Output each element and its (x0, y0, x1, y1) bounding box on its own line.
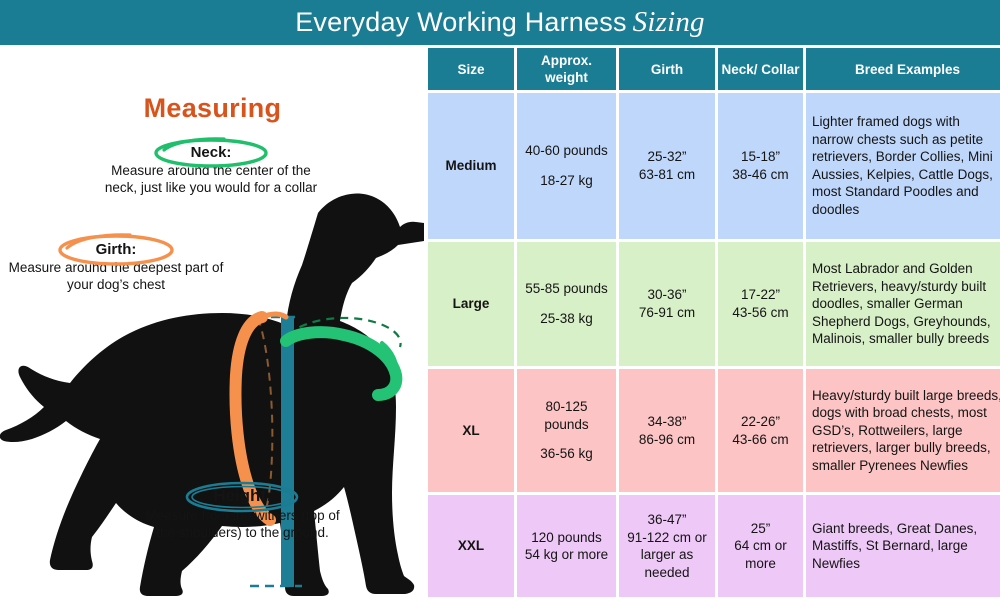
callout-girth: Girth: Measure around the deepest part o… (3, 240, 229, 293)
cell-size: Medium (428, 93, 514, 239)
column-header-neck: Neck/ Collar (718, 48, 803, 90)
cell-girth: 30-36” 76-91 cm (619, 242, 715, 366)
cell-weight-pounds: 120 pounds (531, 530, 602, 545)
cell-neck-inches: 15-18” (741, 149, 780, 164)
height-measure-bar (281, 317, 294, 587)
cell-neck-inches: 22-26” (741, 414, 780, 429)
cell-girth: 34-38” 86-96 cm (619, 369, 715, 493)
cell-neck: 22-26” 43-66 cm (718, 369, 803, 493)
page-title: Everyday Working HarnessSizing (295, 6, 705, 39)
cell-weight: 40-60 pounds 18-27 kg (517, 93, 616, 239)
cell-girth: 25-32” 63-81 cm (619, 93, 715, 239)
page-title-main: Everyday Working Harness (295, 7, 626, 37)
callout-neck-title: Neck: (165, 143, 258, 163)
cell-breeds: Most Labrador and Golden Retrievers, hea… (806, 242, 1000, 366)
cell-weight: 80-125 pounds 36-56 kg (517, 369, 616, 493)
cell-girth-cm: 91-122 cm or larger as needed (627, 530, 707, 580)
column-header-size: Size (428, 48, 514, 90)
cell-neck-cm: 43-56 cm (732, 305, 788, 320)
callout-neck: Neck: Measure around the center of the n… (96, 143, 326, 196)
cell-girth-cm: 76-91 cm (639, 305, 695, 320)
cell-neck: 25” 64 cm or more (718, 495, 803, 597)
cell-girth-cm: 86-96 cm (639, 432, 695, 447)
table-row: XXL 120 pounds 54 kg or more 36-47” 91-1… (428, 495, 1000, 597)
cell-neck: 17-22” 43-56 cm (718, 242, 803, 366)
sizing-table: Size Approx. weight Girth Neck/ Collar B… (425, 45, 1000, 600)
cell-neck-cm: 38-46 cm (732, 167, 788, 182)
cell-neck: 15-18” 38-46 cm (718, 93, 803, 239)
callout-girth-label: Girth: (96, 241, 137, 258)
callout-height-label: Height: (213, 486, 272, 505)
cell-weight: 120 pounds 54 kg or more (517, 495, 616, 597)
column-header-girth: Girth (619, 48, 715, 90)
table-row: Large 55-85 pounds 25-38 kg 30-36” 76-91… (428, 242, 1000, 366)
cell-weight-kg: 18-27 kg (540, 173, 593, 188)
cell-neck-cm: 64 cm or more (734, 538, 787, 571)
cell-weight-kg: 25-38 kg (540, 311, 593, 326)
cell-girth-cm: 63-81 cm (639, 167, 695, 182)
spacer (523, 433, 610, 445)
column-header-weight: Approx. weight (517, 48, 616, 90)
callout-height-body: Measure from the withers (top of the sho… (145, 508, 340, 541)
callout-height: Height: Measure from the withers (top of… (145, 485, 340, 541)
cell-girth: 36-47” 91-122 cm or larger as needed (619, 495, 715, 597)
callout-neck-label: Neck: (191, 144, 232, 161)
cell-neck-inches: 17-22” (741, 287, 780, 302)
table-header-row: Size Approx. weight Girth Neck/ Collar B… (428, 48, 1000, 90)
cell-weight-pounds: 80-125 pounds (544, 399, 588, 432)
cell-girth-inches: 34-38” (647, 414, 686, 429)
cell-weight: 55-85 pounds 25-38 kg (517, 242, 616, 366)
sizing-infographic: Everyday Working HarnessSizing Measuring (0, 0, 1000, 600)
cell-size: XL (428, 369, 514, 493)
cell-breeds: Lighter framed dogs with narrow chests s… (806, 93, 1000, 239)
spacer (523, 298, 610, 310)
cell-weight-kg: 54 kg or more (525, 547, 608, 562)
page-title-emphasis: Sizing (627, 6, 705, 38)
cell-girth-inches: 25-32” (647, 149, 686, 164)
table-row: Medium 40-60 pounds 18-27 kg 25-32” 63-8… (428, 93, 1000, 239)
header-banner: Everyday Working HarnessSizing (0, 0, 1000, 45)
measuring-illustration-panel: Measuring (0, 45, 425, 600)
table-row: XL 80-125 pounds 36-56 kg 34-38” 86-96 c… (428, 369, 1000, 493)
spacer (523, 160, 610, 172)
cell-breeds: Giant breeds, Great Danes, Mastiffs, St … (806, 495, 1000, 597)
cell-neck-inches: 25” (751, 521, 771, 536)
cell-breeds: Heavy/sturdy built large breeds, dogs wi… (806, 369, 1000, 493)
callout-girth-body: Measure around the deepest part of your … (3, 260, 229, 293)
cell-weight-pounds: 55-85 pounds (525, 281, 608, 296)
cell-girth-inches: 30-36” (647, 287, 686, 302)
callout-neck-body: Measure around the center of the neck, j… (96, 163, 326, 196)
column-header-breeds: Breed Examples (806, 48, 1000, 90)
cell-size: Large (428, 242, 514, 366)
callout-height-title: Height: (187, 485, 298, 508)
cell-neck-cm: 43-66 cm (732, 432, 788, 447)
cell-weight-kg: 36-56 kg (540, 446, 593, 461)
cell-weight-pounds: 40-60 pounds (525, 143, 608, 158)
callout-girth-title: Girth: (70, 240, 163, 260)
cell-size: XXL (428, 495, 514, 597)
cell-girth-inches: 36-47” (647, 512, 686, 527)
